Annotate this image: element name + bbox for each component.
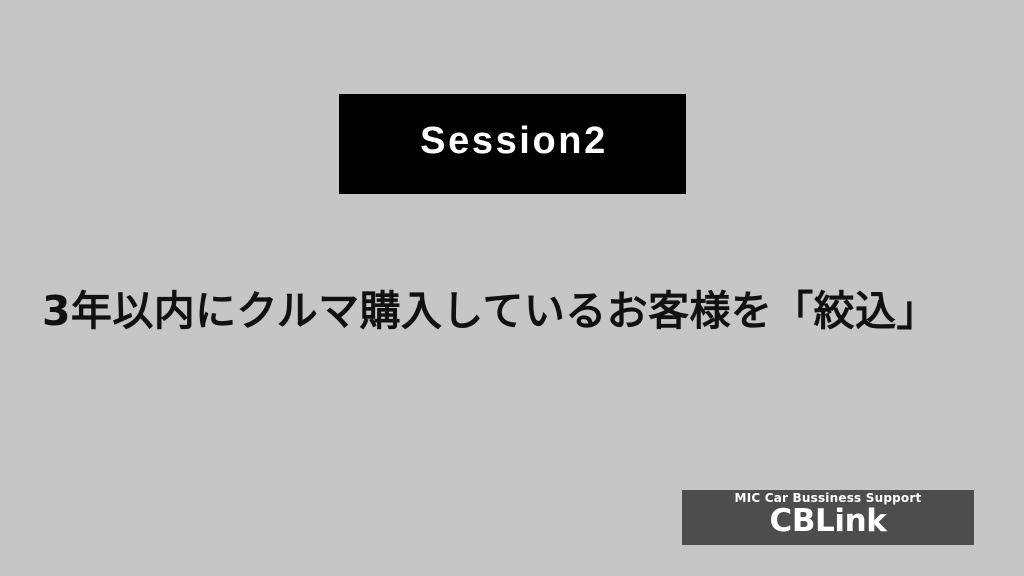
slide-canvas: Session2 3年以内にクルマ購入しているお客様を「絞込」 MIC Car … — [0, 0, 1024, 576]
slide-headline: 3年以内にクルマ購入しているお客様を「絞込」 — [42, 288, 982, 335]
session-title-text: Session2 — [417, 122, 608, 160]
session-title-badge: Session2 — [339, 94, 686, 194]
cblink-logo-badge: MIC Car Bussiness Support CBLink — [682, 490, 974, 545]
logo-wordmark: CBLink — [769, 505, 886, 538]
